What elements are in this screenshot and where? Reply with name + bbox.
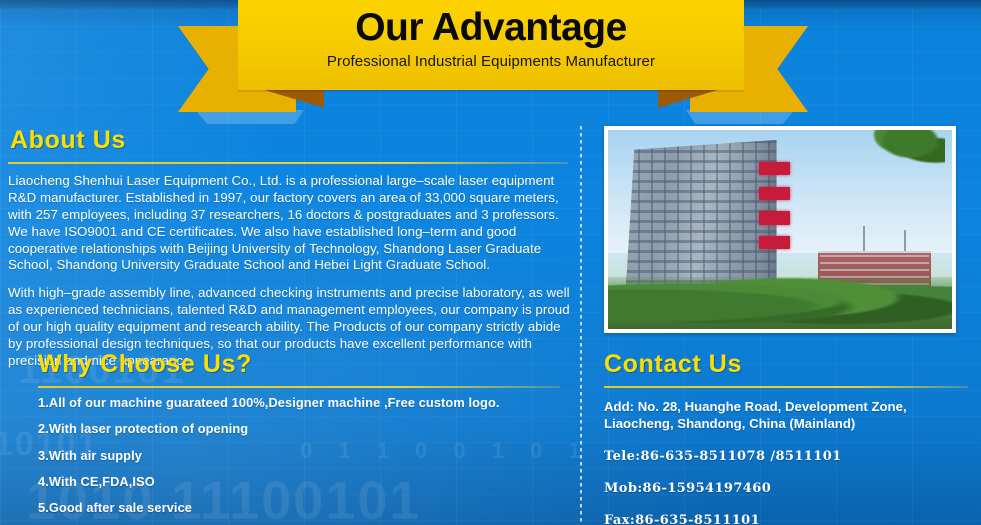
ribbon-banner: Our Advantage Professional Industrial Eq… (0, 0, 981, 122)
list-item: 4.With CE,FDA,ISO (38, 476, 568, 489)
contact-fax: Fax:86-635-8511101 (604, 513, 976, 525)
about-us-rule (8, 162, 568, 164)
contact-address-line-1: Add: No. 28, Huanghe Road, Development Z… (604, 399, 907, 414)
why-choose-us-section: Why Choose Us? 1.All of our machine guar… (38, 350, 568, 525)
photo-office-tower (625, 140, 776, 299)
contact-address-line-2: Liaocheng, Shandong, China (Mainland) (604, 416, 855, 431)
contact-us-section: Contact Us Add: No. 28, Huanghe Road, De… (604, 350, 976, 525)
about-us-heading: About Us (10, 126, 570, 155)
list-item: 3.With air supply (38, 450, 568, 463)
advantage-page: 1100101 10101 1010 11100101 0 1 1 0 0 1 … (0, 0, 981, 525)
contact-address: Add: No. 28, Huanghe Road, Development Z… (604, 398, 976, 432)
vertical-divider (580, 126, 582, 525)
list-item: 5.Good after sale service (38, 502, 568, 515)
about-us-section: About Us Liaocheng Shenhui Laser Equipme… (8, 126, 570, 370)
factory-photo (608, 130, 952, 329)
photo-antenna-mast-1 (863, 226, 865, 254)
factory-photo-frame (604, 126, 956, 333)
photo-building-sign (759, 162, 790, 250)
photo-treeline (608, 277, 952, 329)
contact-us-heading: Contact Us (604, 350, 976, 379)
photo-antenna-mast-2 (904, 230, 906, 254)
why-choose-us-heading: Why Choose Us? (38, 350, 568, 379)
photo-tower-windows (625, 140, 776, 299)
banner-title: Our Advantage (238, 8, 744, 47)
photo-foreground-branches (828, 130, 945, 190)
contact-us-rule (604, 386, 968, 388)
why-choose-us-list: 1.All of our machine guarateed 100%,Desi… (38, 397, 568, 525)
ribbon-tail-shadow-right (686, 110, 804, 124)
banner-subtitle: Professional Industrial Equipments Manuf… (238, 53, 744, 70)
why-choose-us-rule (38, 386, 560, 388)
ribbon-plate: Our Advantage Professional Industrial Eq… (238, 0, 744, 90)
contact-mobile: Mob:86-15954197460 (604, 481, 976, 496)
contact-telephone: Tele:86-635-8511078 /8511101 (604, 449, 976, 464)
list-item: 2.With laser protection of opening (38, 423, 568, 436)
list-item: 1.All of our machine guarateed 100%,Desi… (38, 397, 568, 410)
ribbon-tail-shadow-left (186, 110, 304, 124)
about-us-paragraph-1: Liaocheng Shenhui Laser Equipment Co., L… (8, 173, 570, 274)
